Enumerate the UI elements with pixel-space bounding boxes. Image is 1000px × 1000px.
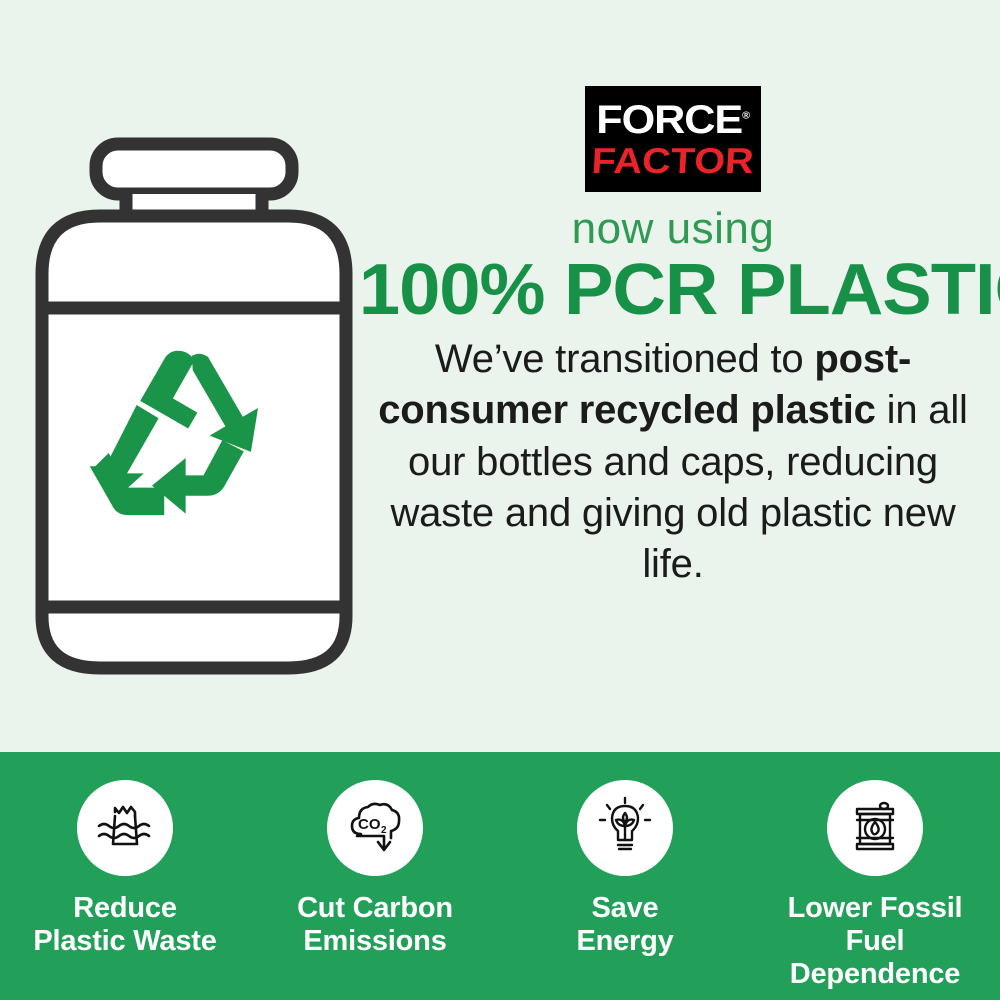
lightbulb-plant-icon: [577, 780, 673, 876]
benefits-banner: Reduce Plastic Waste CO 2 Cut Carbon Emi…: [0, 752, 1000, 1000]
oil-barrel-droplet-icon: [827, 780, 923, 876]
benefit-reduce-plastic-waste: Reduce Plastic Waste: [7, 780, 243, 958]
benefit-label-line1: Save: [576, 892, 673, 925]
benefit-label: Cut Carbon Emissions: [297, 892, 453, 958]
benefit-label: Save Energy: [576, 892, 673, 958]
eyebrow-text: now using: [368, 206, 978, 252]
infographic-page: FORCE® FACTOR now using 100% PCR PLASTIC…: [0, 0, 1000, 1000]
benefit-save-energy: Save Energy: [507, 780, 743, 958]
hero-section: FORCE® FACTOR now using 100% PCR PLASTIC…: [0, 0, 1000, 752]
svg-text:CO: CO: [358, 816, 381, 833]
registered-trademark-icon: ®: [742, 110, 750, 121]
benefit-label-line2: Emissions: [297, 925, 453, 958]
body-text-part1: We’ve transitioned to: [435, 337, 815, 381]
page-title: 100% PCR PLASTIC: [359, 254, 987, 326]
benefit-label-line1: Cut Carbon: [297, 892, 453, 925]
benefit-label: Lower Fossil Fuel Dependence: [757, 892, 993, 991]
bottle-illustration: [24, 132, 364, 680]
benefit-lower-fossil-fuel-dependence: Lower Fossil Fuel Dependence: [757, 780, 993, 991]
logo-force-text: FORCE: [596, 98, 742, 142]
benefit-cut-carbon-emissions: CO 2 Cut Carbon Emissions: [257, 780, 493, 958]
hero-copy: FORCE® FACTOR now using 100% PCR PLASTIC…: [368, 86, 978, 590]
benefit-label-line2: Dependence: [757, 958, 993, 991]
logo-force-word: FORCE®: [596, 100, 750, 140]
benefit-label-line1: Reduce: [33, 892, 216, 925]
body-paragraph: We’ve transitioned to post-consumer recy…: [368, 334, 978, 590]
benefit-label-line1: Lower Fossil Fuel: [757, 892, 993, 958]
svg-text:2: 2: [381, 825, 387, 836]
benefit-label-line2: Plastic Waste: [33, 925, 216, 958]
plastic-bag-in-water-icon: [77, 780, 173, 876]
benefit-label: Reduce Plastic Waste: [33, 892, 216, 958]
co2-cloud-arrow-icon: CO 2: [327, 780, 423, 876]
benefit-label-line2: Energy: [576, 925, 673, 958]
force-factor-logo: FORCE® FACTOR: [585, 86, 761, 192]
logo-factor-word: FACTOR: [591, 143, 755, 179]
